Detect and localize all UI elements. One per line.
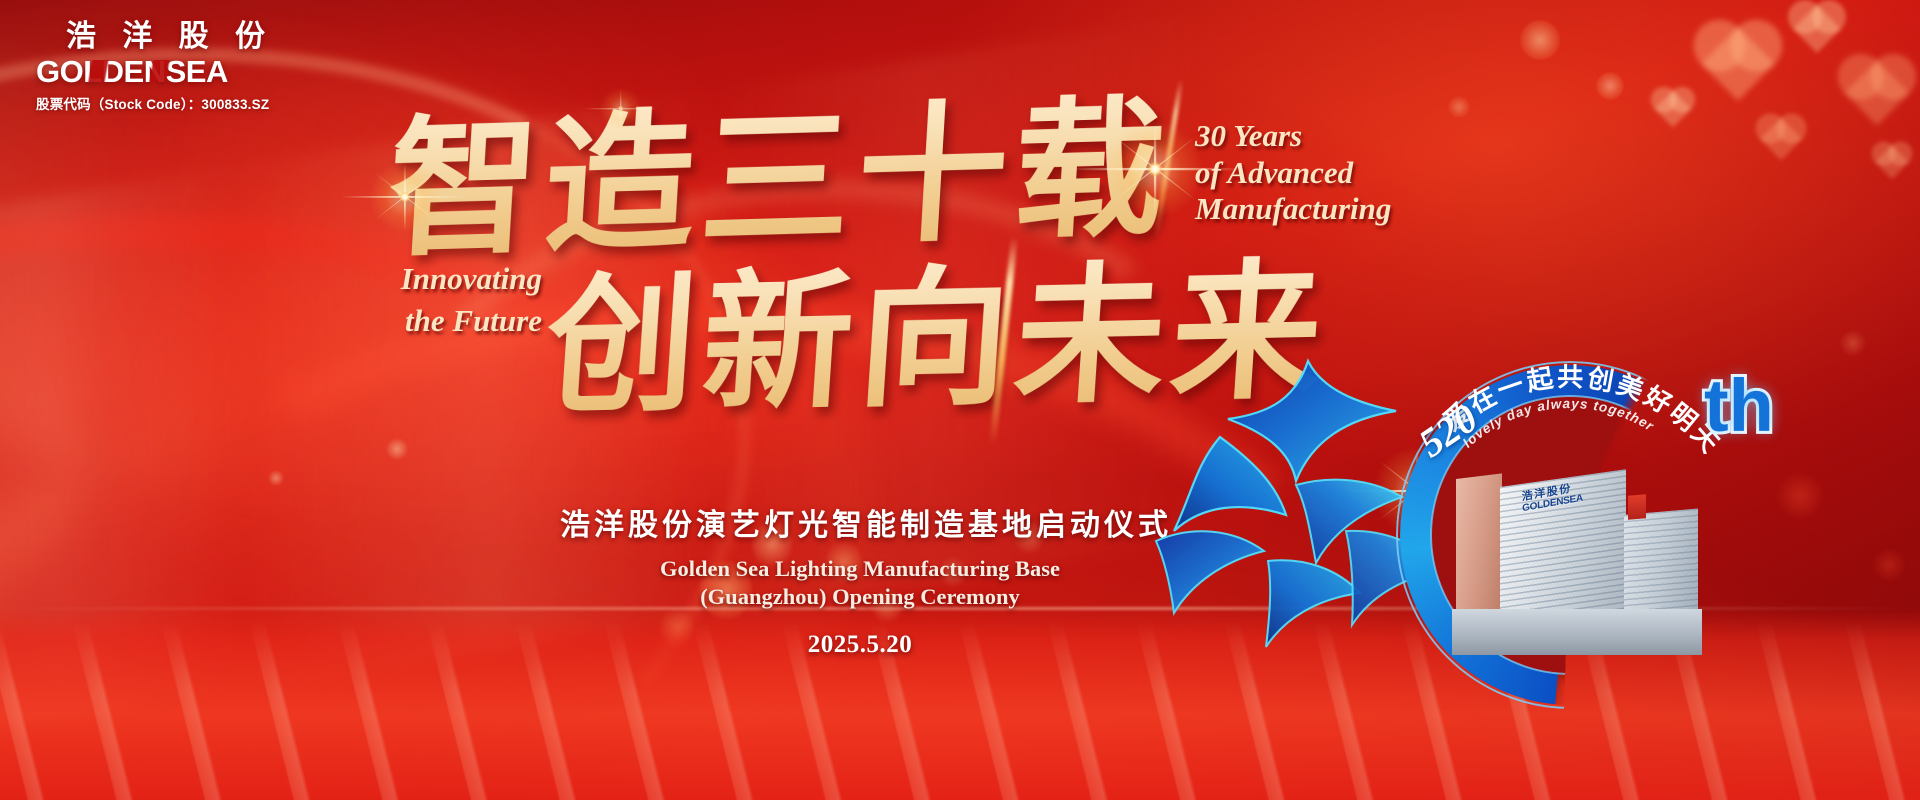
heart-icon (1760, 118, 1802, 160)
tagline-left: Innovating the Future (332, 258, 542, 341)
tagline-right-line-2: of Advanced (1195, 155, 1525, 192)
brand-logo-en-text: GOLDENSEA (36, 56, 228, 87)
tagline-right-line-3: Manufacturing (1195, 191, 1525, 228)
subtitle-group: 浩洋股份演艺灯光智能制造基地启动仪式 Golden Sea Lighting M… (560, 500, 1160, 659)
tagline-left-line-1: Innovating (332, 258, 542, 300)
anniversary-th-suffix: th (1704, 363, 1774, 448)
brand-logo-en: GOLDENSEA (36, 56, 228, 87)
bokeh-icon (1448, 96, 1470, 118)
bokeh-icon (268, 470, 284, 486)
bokeh-icon (1520, 20, 1560, 60)
subtitle-en-line-2: (Guangzhou) Opening Ceremony (560, 583, 1160, 611)
heart-icon (1655, 91, 1692, 128)
heart-icon (1875, 145, 1909, 179)
anniversary-th-text: th (1704, 364, 1774, 447)
stock-code-label: 股票代码（Stock Code）：300833.SZ (36, 93, 336, 113)
banner-canvas: 浩 洋 股 份 GOLDENSEA 股票代码（Stock Code）：30083… (0, 0, 1920, 800)
brand-logo: 浩 洋 股 份 GOLDENSEA 股票代码（Stock Code）：30083… (36, 20, 336, 113)
subtitle-en-line-1: Golden Sea Lighting Manufacturing Base (560, 555, 1160, 583)
tagline-left-line-2: the Future (332, 300, 542, 342)
heart-icon (1793, 5, 1841, 53)
headquarters-building-photo: 浩洋股份 GOLDENSEA (1452, 467, 1702, 655)
heart-icon (1701, 27, 1775, 101)
bokeh-icon (386, 438, 408, 460)
building-podium (1452, 609, 1702, 655)
subtitle-en: Golden Sea Lighting Manufacturing Base (… (560, 555, 1160, 611)
tagline-right: 30 Years of Advanced Manufacturing (1195, 118, 1525, 228)
tagline-right-line-1: 30 Years (1195, 118, 1525, 155)
subtitle-cn: 浩洋股份演艺灯光智能制造基地启动仪式 (560, 500, 1160, 544)
event-date: 2025.5.20 (560, 631, 1160, 659)
bokeh-icon (1840, 330, 1866, 356)
brand-logo-cn: 浩 洋 股 份 (36, 20, 336, 54)
heart-icon (1844, 60, 1909, 125)
bokeh-icon (1596, 72, 1624, 100)
building-red-accent (1628, 494, 1646, 520)
anniversary-emblem: 爱在一起共创美好明天 lovely day always together 52… (1100, 355, 1920, 655)
